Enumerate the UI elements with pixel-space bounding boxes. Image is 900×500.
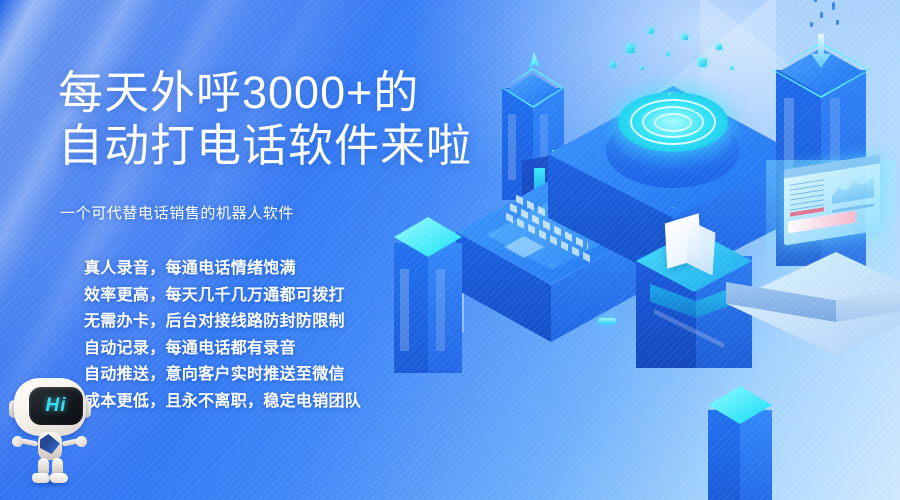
- accent-chip: [598, 318, 616, 324]
- dashboard-panel: [784, 154, 880, 245]
- list-item: 自动推送，意向客户实时推送至微信: [84, 362, 361, 389]
- subtitle: 一个可代替电话销售的机器人软件: [60, 202, 294, 223]
- promo-banner: 每天外呼3000+的 自动打电话软件来啦 一个可代替电话销售的机器人软件 真人录…: [0, 0, 900, 500]
- mascot-arm-left: [21, 438, 39, 446]
- feature-list: 真人录音，每通电话情绪饱满 效率更高，每天几千几万通都可拨打 无需办卡，后台对接…: [84, 256, 361, 415]
- mascot-greeting-text: Hi: [29, 387, 83, 425]
- mascot-head: Hi: [14, 378, 86, 436]
- list-item: 效率更高，每天几千几万通都可拨打: [84, 283, 361, 310]
- mascot-screen: Hi: [29, 387, 83, 425]
- dashboard-platform: [726, 222, 900, 382]
- list-item: 无需办卡，后台对接线路防封防限制: [84, 309, 361, 336]
- mascot-boot-left: [32, 473, 50, 483]
- headline: 每天外呼3000+的 自动打电话软件来啦: [58, 66, 478, 172]
- isometric-illustration: [430, 0, 900, 500]
- list-item: 真人录音，每通电话情绪饱满: [84, 256, 361, 283]
- mascot-boot-right: [50, 473, 68, 483]
- mascot-hand-left: [12, 436, 23, 447]
- list-item: 自动记录，每通电话都有录音: [84, 336, 361, 363]
- pillar-cyan-cap-right: [700, 370, 780, 500]
- list-item: 成本更低，且永不离职，稳定电销团队: [84, 389, 361, 416]
- mascot-hand-right: [76, 436, 87, 447]
- robot-mascot: Hi: [8, 378, 92, 490]
